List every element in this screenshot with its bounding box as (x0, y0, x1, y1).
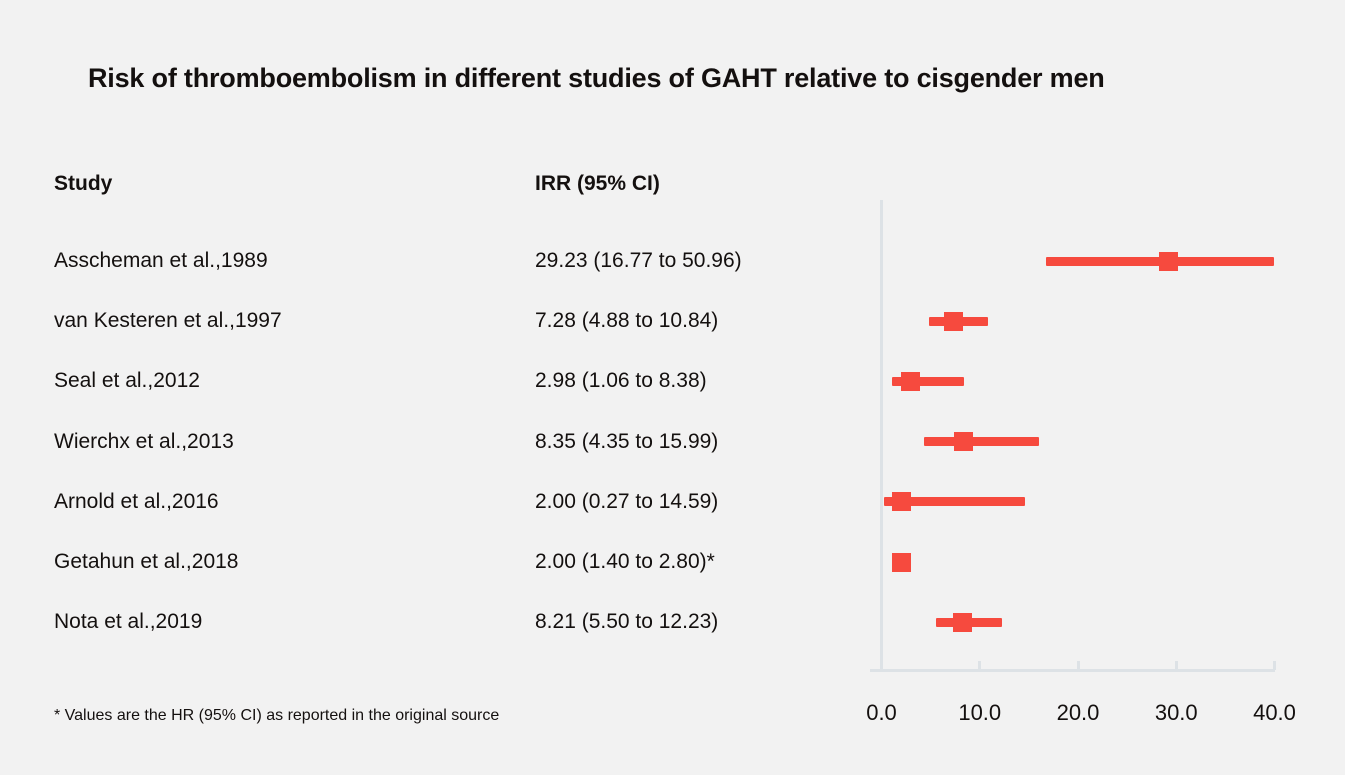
row-study-label: Nota et al.,2019 (54, 602, 202, 642)
x-axis-tick (1175, 661, 1178, 670)
row-study-label: Arnold et al.,2016 (54, 482, 219, 522)
table-row: Seal et al.,20122.98 (1.06 to 8.38) (0, 361, 1345, 401)
x-axis-tick (1273, 661, 1276, 670)
row-study-label: van Kesteren et al.,1997 (54, 301, 282, 341)
table-row: Nota et al.,20198.21 (5.50 to 12.23) (0, 602, 1345, 642)
table-row: Asscheman et al.,198929.23 (16.77 to 50.… (0, 241, 1345, 281)
footnote: * Values are the HR (95% CI) as reported… (54, 707, 499, 725)
table-row: van Kesteren et al.,19977.28 (4.88 to 10… (0, 301, 1345, 341)
x-axis-tick-label: 10.0 (958, 700, 1001, 726)
row-estimate-value: 7.28 (4.88 to 10.84) (535, 301, 718, 341)
row-estimate-value: 2.98 (1.06 to 8.38) (535, 361, 707, 401)
forest-plot: Risk of thromboembolism in different stu… (0, 0, 1345, 775)
row-estimate-value: 8.35 (4.35 to 15.99) (535, 422, 718, 462)
row-study-label: Getahun et al.,2018 (54, 542, 238, 582)
column-header-study: Study (54, 172, 112, 196)
x-axis-tick-label: 0.0 (866, 700, 897, 726)
row-estimate-value: 29.23 (16.77 to 50.96) (535, 241, 742, 281)
table-row: Getahun et al.,20182.00 (1.40 to 2.80)* (0, 542, 1345, 582)
row-estimate-value: 8.21 (5.50 to 12.23) (535, 602, 718, 642)
x-axis-tick (880, 661, 883, 670)
row-estimate-value: 2.00 (1.40 to 2.80)* (535, 542, 715, 582)
row-study-label: Seal et al.,2012 (54, 361, 200, 401)
table-row: Wierchx et al.,20138.35 (4.35 to 15.99) (0, 422, 1345, 462)
row-study-label: Asscheman et al.,1989 (54, 241, 268, 281)
page-title: Risk of thromboembolism in different stu… (88, 63, 1268, 94)
x-axis-tick (978, 661, 981, 670)
x-axis-tick (1077, 661, 1080, 670)
column-header-irr: IRR (95% CI) (535, 172, 660, 196)
row-estimate-value: 2.00 (0.27 to 14.59) (535, 482, 718, 522)
x-axis-tick-label: 20.0 (1057, 700, 1100, 726)
x-axis-tick-label: 40.0 (1253, 700, 1296, 726)
x-axis-tick-label: 30.0 (1155, 700, 1198, 726)
row-study-label: Wierchx et al.,2013 (54, 422, 234, 462)
x-axis-line (870, 669, 1275, 672)
table-row: Arnold et al.,20162.00 (0.27 to 14.59) (0, 482, 1345, 522)
